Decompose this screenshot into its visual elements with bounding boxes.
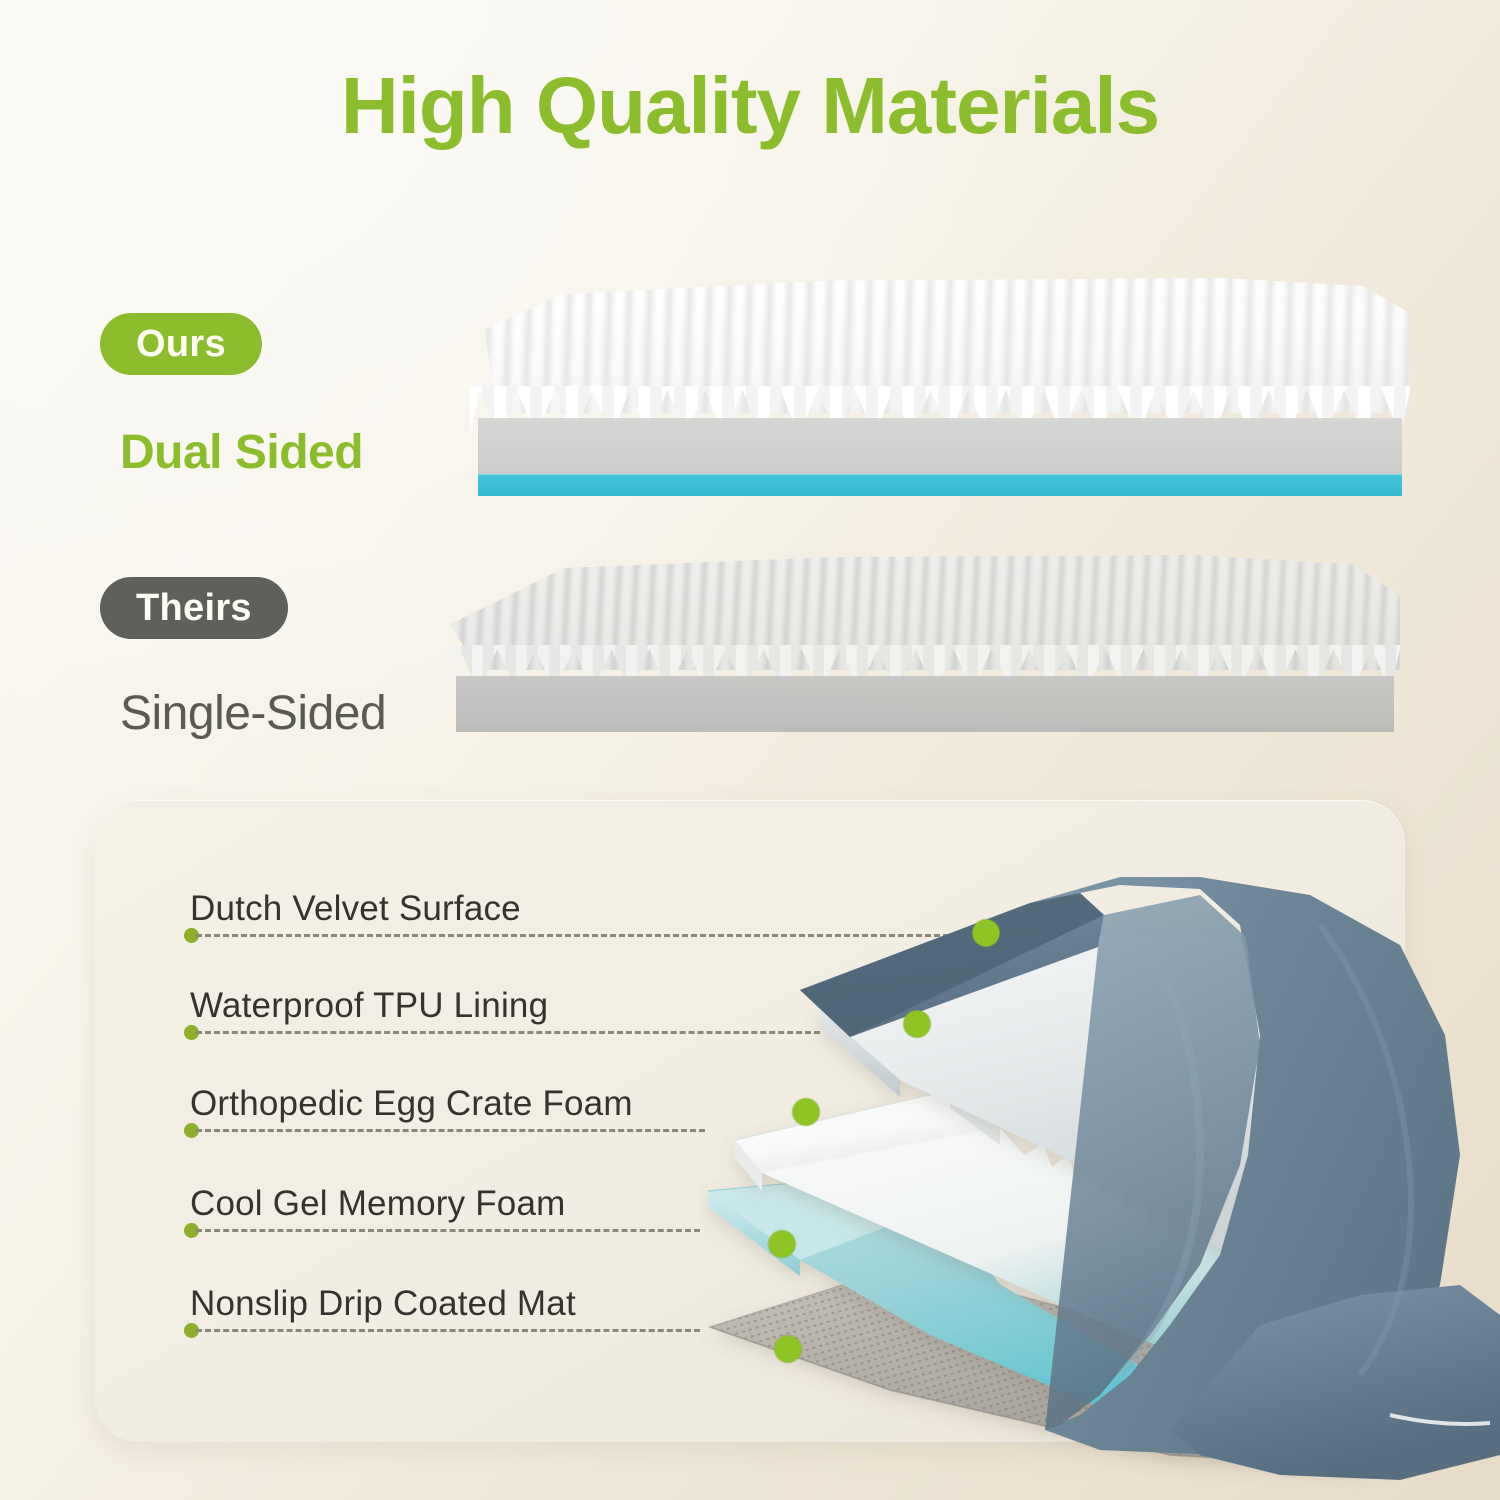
foam-slab-theirs [450,550,1400,730]
feature-leader-line [196,1329,700,1332]
feature-leader-line [196,1229,700,1232]
page-title: High Quality Materials [0,62,1500,150]
ours-gel-layer [478,474,1402,496]
ours-foam-base [478,418,1402,480]
feature-leader-line [196,1129,705,1132]
badge-theirs: Theirs [100,577,288,639]
theirs-foam-base [456,676,1394,732]
feature-label: Cool Gel Memory Foam [190,1184,565,1224]
badge-ours: Ours [100,313,262,375]
feature-endpoint-dot-icon [775,1336,802,1363]
feature-endpoint-dot-icon [793,1099,820,1126]
foam-slab-ours [470,278,1410,493]
feature-endpoint-dot-icon [769,1231,796,1258]
feature-endpoint-dot-icon [904,1011,931,1038]
label-single-sided: Single-Sided [120,686,386,741]
badge-theirs-label: Theirs [136,587,252,630]
label-dual-sided: Dual Sided [120,425,363,480]
feature-label: Orthopedic Egg Crate Foam [190,1084,633,1124]
feature-label: Nonslip Drip Coated Mat [190,1284,576,1324]
feature-endpoint-dot-icon [973,920,1000,947]
badge-ours-label: Ours [136,323,226,366]
feature-label: Dutch Velvet Surface [190,889,521,929]
feature-label: Waterproof TPU Lining [190,986,548,1026]
product-exploded-illustration [700,855,1500,1500]
